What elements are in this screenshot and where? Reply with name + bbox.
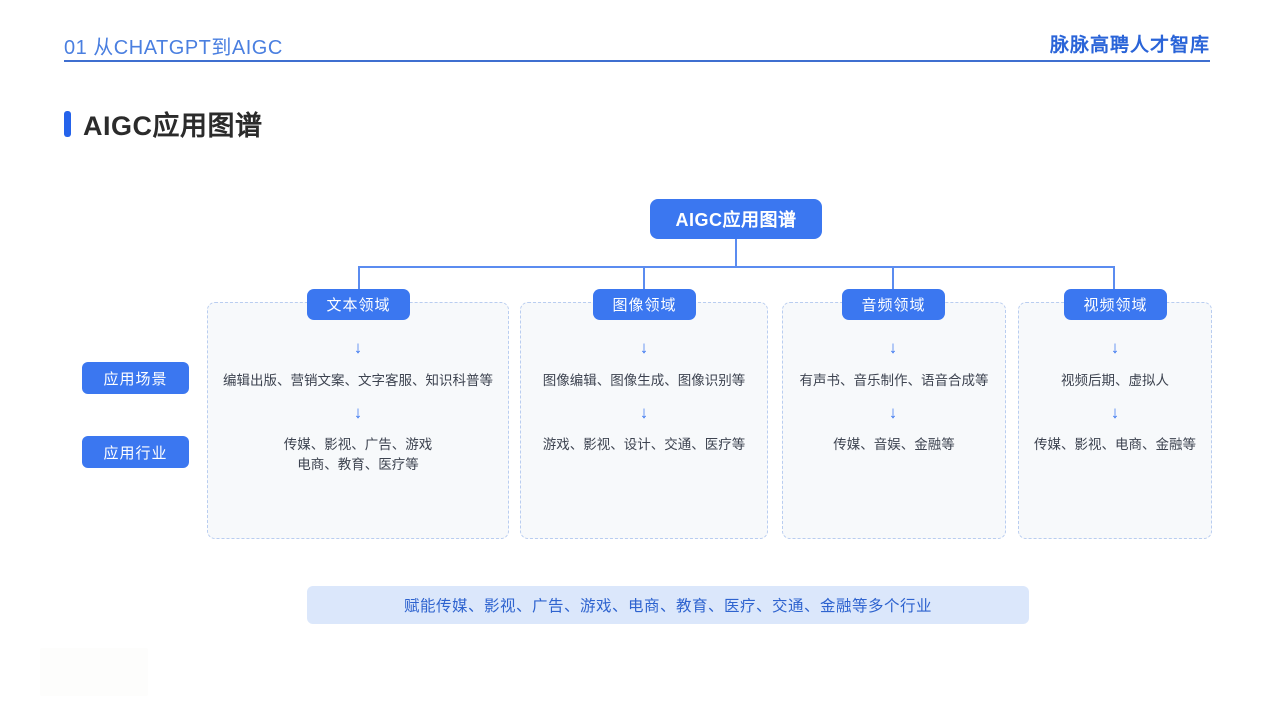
down-arrow-icon: ↓	[1106, 337, 1124, 359]
connector-branch-3	[892, 266, 894, 291]
industry-text-text-domain: 传媒、影视、广告、游戏 电商、教育、医疗等	[207, 435, 509, 475]
summary-banner: 赋能传媒、影视、广告、游戏、电商、教育、医疗、交通、金融等多个行业	[307, 586, 1029, 624]
down-arrow-icon: ↓	[349, 337, 367, 359]
category-pill-audio[interactable]: 音频领域	[842, 289, 945, 320]
connector-root-vertical	[735, 239, 737, 267]
connector-branch-4	[1113, 266, 1115, 291]
scene-text-audio-domain: 有声书、音乐制作、语音合成等	[782, 371, 1006, 391]
down-arrow-icon: ↓	[884, 402, 902, 424]
page-title-group: AIGC应用图谱	[64, 104, 263, 143]
row-label-application-industry[interactable]: 应用行业	[82, 436, 189, 468]
down-arrow-icon: ↓	[1106, 402, 1124, 424]
header-section-label: 01 从CHATGPT到AIGC	[64, 31, 283, 60]
industry-text-video-domain: 传媒、影视、电商、金融等	[1018, 435, 1212, 455]
down-arrow-icon: ↓	[635, 402, 653, 424]
header-brand-label: 脉脉高聘人才智库	[1050, 30, 1210, 57]
category-pill-image[interactable]: 图像领域	[593, 289, 696, 320]
page-title: AIGC应用图谱	[83, 104, 263, 143]
row-label-application-scene[interactable]: 应用场景	[82, 362, 189, 394]
category-pill-text[interactable]: 文本领域	[307, 289, 410, 320]
diagram-root-node[interactable]: AIGC应用图谱	[650, 199, 822, 239]
connector-horizontal-bus	[358, 266, 1114, 268]
down-arrow-icon: ↓	[349, 402, 367, 424]
industry-text-audio-domain: 传媒、音娱、金融等	[782, 435, 1006, 455]
scene-text-image-domain: 图像编辑、图像生成、图像识别等	[520, 371, 768, 391]
category-pill-video[interactable]: 视频领域	[1064, 289, 1167, 320]
scene-text-video-domain: 视频后期、虚拟人	[1018, 371, 1212, 391]
scene-text-text-domain: 编辑出版、营销文案、文字客服、知识科普等	[207, 371, 509, 391]
slide-canvas: 01 从CHATGPT到AIGC 脉脉高聘人才智库 AIGC应用图谱 AIGC应…	[0, 0, 1274, 716]
watermark-block	[40, 648, 148, 696]
connector-branch-1	[358, 266, 360, 291]
industry-text-image-domain: 游戏、影视、设计、交通、医疗等	[520, 435, 768, 455]
down-arrow-icon: ↓	[635, 337, 653, 359]
title-accent-bar-icon	[64, 111, 71, 137]
connector-branch-2	[643, 266, 645, 291]
down-arrow-icon: ↓	[884, 337, 902, 359]
header-divider	[64, 60, 1210, 62]
